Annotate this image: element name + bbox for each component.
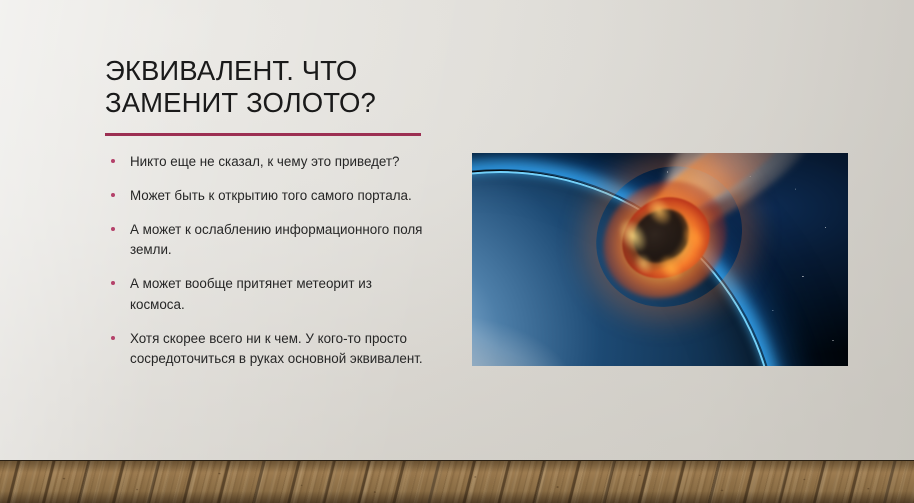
bullet-dot-icon: [111, 227, 115, 231]
list-item-label: Хотя скорее всего ни к чем. У кого-то пр…: [130, 331, 423, 367]
bullet-dot-icon: [111, 336, 115, 340]
bullet-dot-icon: [111, 281, 115, 285]
title-underline-rule: [105, 133, 421, 136]
meteor-earth-image: [472, 153, 848, 366]
bullet-list: Никто еще не сказал, к чему это приведет…: [108, 152, 428, 370]
image-vignette: [472, 153, 848, 366]
list-item: А может вообще притянет метеорит из косм…: [108, 274, 428, 316]
bullet-dot-icon: [111, 159, 115, 163]
list-item-label: А может вообще притянет метеорит из косм…: [130, 276, 372, 312]
list-item: Может быть к открытию того самого портал…: [108, 186, 428, 207]
wooden-floor-strip: [0, 460, 914, 503]
list-item-label: А может к ослаблению информационного пол…: [130, 222, 422, 258]
page-title: ЭКВИВАЛЕНТ. ЧТО ЗАМЕНИТ ЗОЛОТО?: [105, 55, 485, 119]
title-block: ЭКВИВАЛЕНТ. ЧТО ЗАМЕНИТ ЗОЛОТО?: [105, 55, 485, 119]
presentation-slide: ЭКВИВАЛЕНТ. ЧТО ЗАМЕНИТ ЗОЛОТО? Никто ещ…: [0, 0, 914, 503]
list-item-label: Может быть к открытию того самого портал…: [130, 188, 412, 203]
list-item: Хотя скорее всего ни к чем. У кого-то пр…: [108, 329, 428, 371]
list-item: А может к ослаблению информационного пол…: [108, 220, 428, 262]
list-item-label: Никто еще не сказал, к чему это приведет…: [130, 154, 400, 169]
bullet-dot-icon: [111, 193, 115, 197]
floor-shading: [0, 461, 914, 503]
list-item: Никто еще не сказал, к чему это приведет…: [108, 152, 428, 173]
